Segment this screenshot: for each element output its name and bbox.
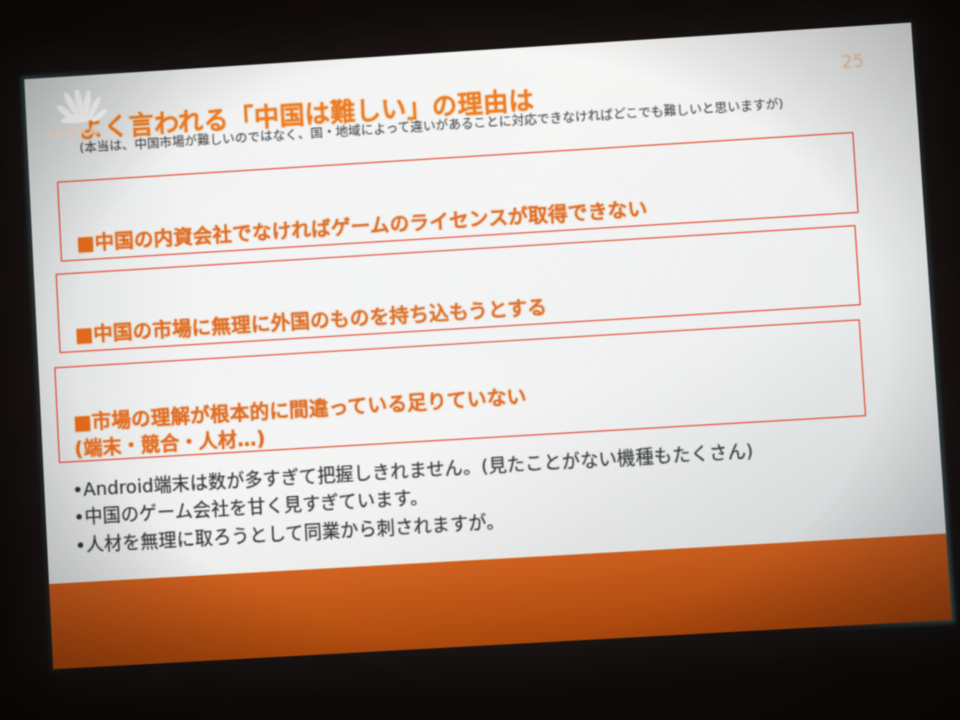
projected-slide-photo: よく言われる「中国は難しい」の理由は (本当は、中国市場が難しいのではなく、国・… (0, 0, 960, 720)
slide-surface: よく言われる「中国は難しい」の理由は (本当は、中国市場が難しいのではなく、国・… (24, 22, 952, 669)
page-number: 25 (841, 52, 866, 74)
projection-screen: よく言われる「中国は難しい」の理由は (本当は、中国市場が難しいのではなく、国・… (24, 22, 952, 669)
slide-content: よく言われる「中国は難しい」の理由は (本当は、中国市場が難しいのではなく、国・… (24, 22, 952, 669)
clara-logo-icon (45, 87, 123, 151)
